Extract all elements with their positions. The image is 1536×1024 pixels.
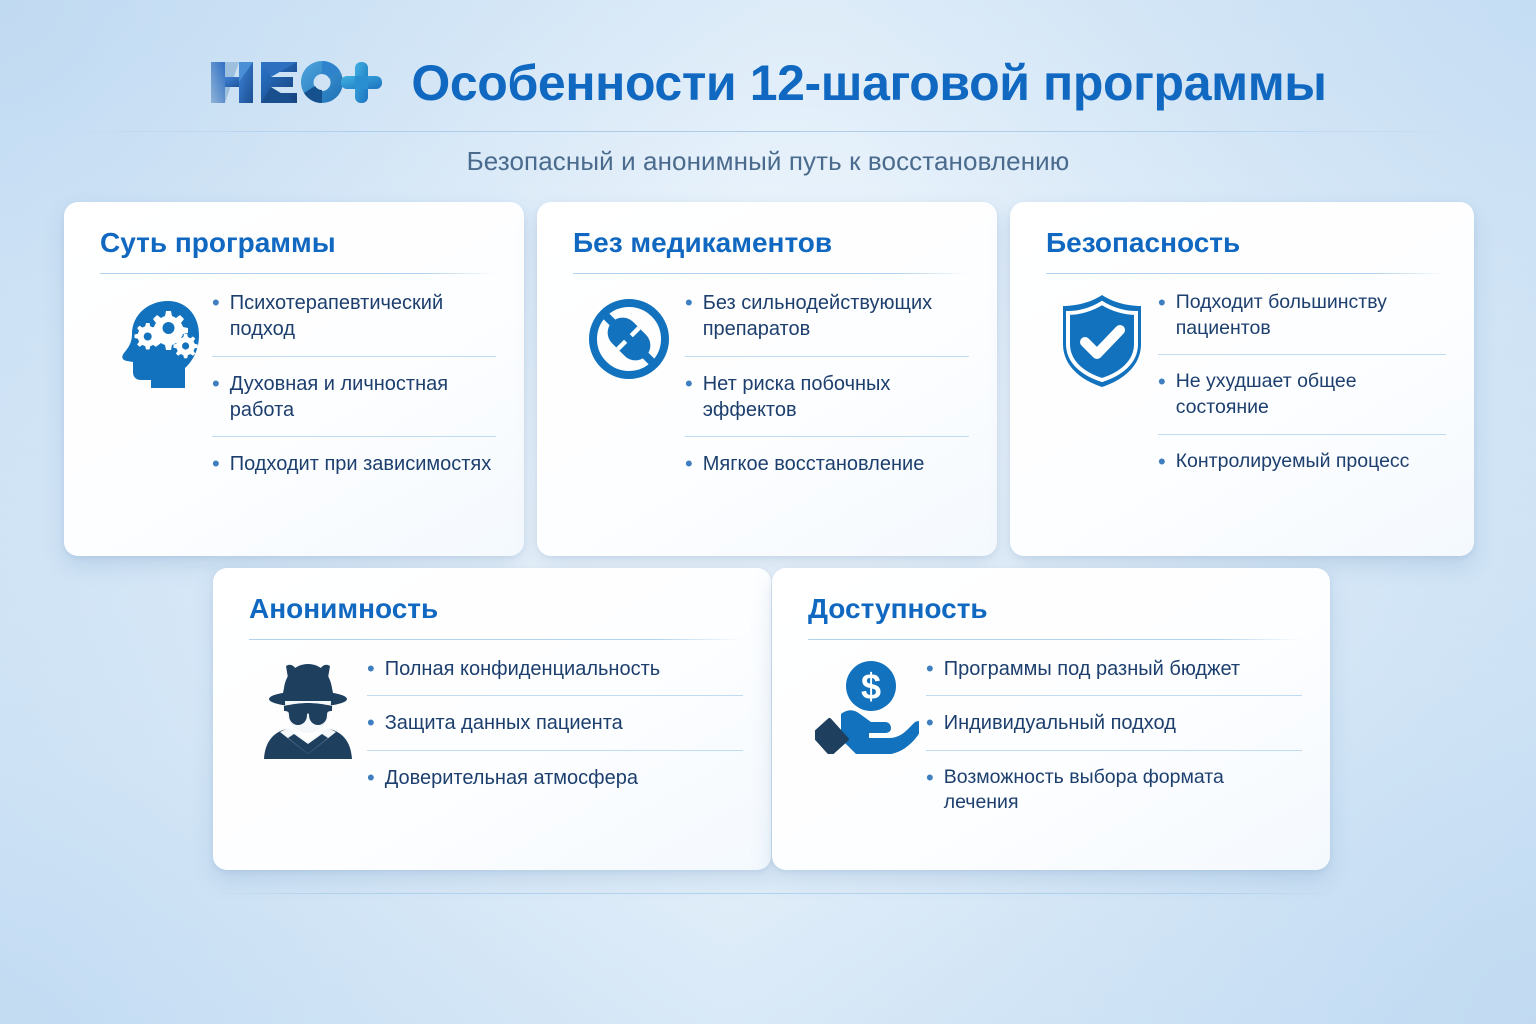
card-icon-slot [573, 288, 685, 386]
bullet-text: Полная конфиденциальность [385, 656, 743, 682]
bullet-dot-icon: • [212, 371, 220, 397]
bullet-text: Контролируемый процесс [1176, 449, 1446, 475]
bullet-dot-icon: • [1158, 290, 1166, 316]
header-divider [62, 131, 1474, 132]
bullet-dot-icon: • [367, 710, 375, 736]
bullet-dot-icon: • [685, 290, 693, 316]
card-icon-slot [249, 654, 367, 760]
bullet-item: • Подходит большинству пациентов [1158, 290, 1446, 354]
card-no-medication[interactable]: Без медикаментов • Без сильнодействующих [537, 202, 997, 556]
bullet-dot-icon: • [685, 451, 693, 477]
bullet-dot-icon: • [926, 765, 934, 791]
card-title-divider [100, 273, 496, 274]
bullet-item: • Возможность выбора формата лечения [926, 750, 1302, 829]
card-affordability[interactable]: Доступность $ • Программы под разный бюд… [772, 568, 1330, 870]
neo-plus-logo-icon [209, 56, 385, 110]
card-body: • Психотерапевтический подход • Духовная… [100, 278, 496, 536]
bullet-list: • Без сильнодействующих препаратов • Нет… [685, 288, 969, 491]
card-title: Безопасность [1046, 228, 1446, 259]
card-body: • Без сильнодействующих препаратов • Нет… [573, 278, 969, 536]
bullet-item: • Полная конфиденциальность [367, 656, 743, 695]
bullet-item: • Психотерапевтический подход [212, 290, 496, 356]
card-icon-slot: $ [808, 654, 926, 754]
bullet-text: Подходит при зависимостях [230, 451, 496, 477]
bullet-dot-icon: • [926, 656, 934, 682]
card-programme-essence[interactable]: Суть программы • [64, 202, 524, 556]
infographic-page: Особенности 12-шаговой программы Безопас… [0, 0, 1536, 1024]
svg-text:$: $ [861, 666, 881, 707]
bullet-text: Мягкое восстановление [703, 451, 969, 477]
card-title: Доступность [808, 594, 1302, 625]
bullet-list: • Программы под разный бюджет • Индивиду… [926, 654, 1302, 829]
bullet-dot-icon: • [1158, 369, 1166, 395]
bullet-item: • Подходит при зависимостях [212, 436, 496, 490]
bullet-text: Психотерапевтический подход [230, 290, 496, 343]
page-subtitle: Безопасный и анонимный путь к восстановл… [0, 146, 1536, 177]
bullet-item: • Индивидуальный подход [926, 695, 1302, 749]
footer-divider [213, 893, 1331, 894]
bullet-text: Не ухудшает общее состояние [1176, 369, 1446, 420]
card-title-divider [1046, 273, 1446, 274]
page-title: Особенности 12-шаговой программы [411, 58, 1326, 108]
bullet-item: • Без сильнодействующих препаратов [685, 290, 969, 356]
bullet-dot-icon: • [212, 290, 220, 316]
bullet-item: • Контролируемый процесс [1158, 434, 1446, 488]
head-with-gears-icon [108, 292, 204, 388]
incognito-person-icon [258, 658, 358, 760]
card-icon-slot [100, 288, 212, 388]
bullet-item: • Мягкое восстановление [685, 436, 969, 490]
bullet-item: • Не ухудшает общее состояние [1158, 354, 1446, 433]
bullet-text: Духовная и личностная работа [230, 371, 496, 424]
card-title-divider [808, 639, 1302, 640]
bullet-text: Программы под разный бюджет [944, 656, 1302, 682]
bullet-dot-icon: • [926, 710, 934, 736]
header: Особенности 12-шаговой программы [0, 44, 1536, 122]
bullet-item: • Духовная и личностная работа [212, 356, 496, 437]
card-title: Суть программы [100, 228, 496, 259]
bullet-text: Защита данных пациента [385, 710, 743, 736]
bullet-item: • Программы под разный бюджет [926, 656, 1302, 695]
card-title: Анонимность [249, 594, 743, 625]
bullet-item: • Нет риска побочных эффектов [685, 356, 969, 437]
bullet-text: Индивидуальный подход [944, 710, 1302, 736]
card-anonymity[interactable]: Анонимность [213, 568, 771, 870]
bullet-list: • Психотерапевтический подход • Духовная… [212, 288, 496, 491]
shield-check-icon [1056, 292, 1148, 390]
bullet-dot-icon: • [212, 451, 220, 477]
card-body: $ • Программы под разный бюджет • Индиви… [808, 644, 1302, 850]
bullet-dot-icon: • [685, 371, 693, 397]
bullet-dot-icon: • [1158, 449, 1166, 475]
no-pills-icon [582, 292, 676, 386]
bullet-item: • Защита данных пациента [367, 695, 743, 749]
bullet-text: Подходит большинству пациентов [1176, 290, 1446, 341]
header-inner: Особенности 12-шаговой программы [209, 56, 1326, 110]
card-body: • Полная конфиденциальность • Защита дан… [249, 644, 743, 850]
bullet-dot-icon: • [367, 765, 375, 791]
bullet-list: • Полная конфиденциальность • Защита дан… [367, 654, 743, 804]
card-title-divider [249, 639, 743, 640]
card-title-divider [573, 273, 969, 274]
bullet-dot-icon: • [367, 656, 375, 682]
bullet-text: Возможность выбора формата лечения [944, 765, 1302, 816]
card-title: Без медикаментов [573, 228, 969, 259]
card-safety[interactable]: Безопасность • Подходит большинству паци… [1010, 202, 1474, 556]
bullet-text: Нет риска побочных эффектов [703, 371, 969, 424]
card-icon-slot [1046, 288, 1158, 390]
hand-holding-coin-icon: $ [815, 658, 919, 754]
bullet-text: Без сильнодействующих препаратов [703, 290, 969, 343]
bullet-text: Доверительная атмосфера [385, 765, 743, 791]
card-body: • Подходит большинству пациентов • Не ух… [1046, 278, 1446, 536]
bullet-item: • Доверительная атмосфера [367, 750, 743, 804]
bullet-list: • Подходит большинству пациентов • Не ух… [1158, 288, 1446, 488]
